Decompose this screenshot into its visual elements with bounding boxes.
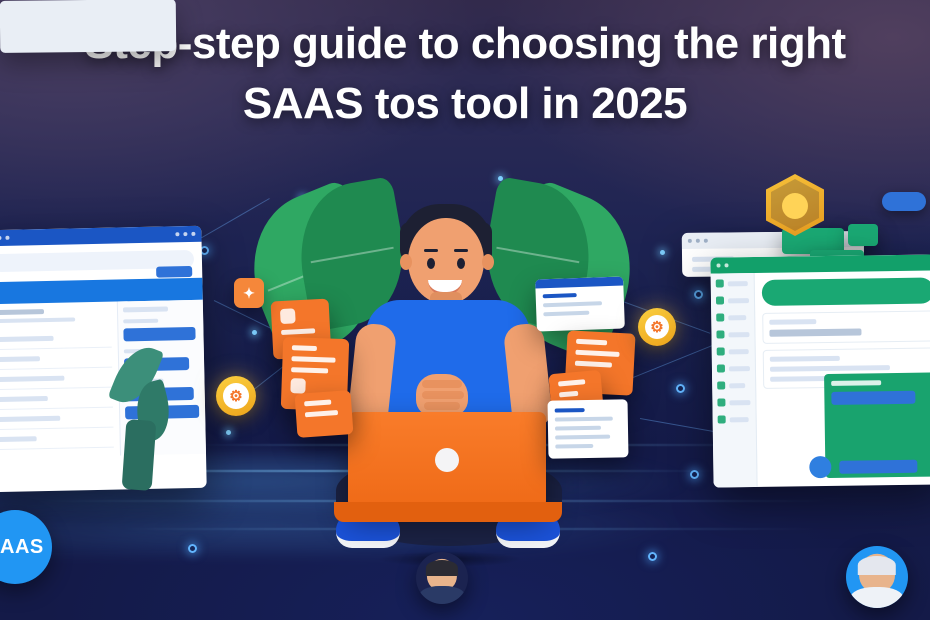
white-dialog-card[interactable] — [535, 276, 625, 331]
avatar-center[interactable] — [416, 552, 468, 604]
sidebar-item[interactable] — [716, 313, 749, 321]
sidebar-item[interactable] — [716, 330, 749, 338]
gear-icon[interactable] — [191, 232, 195, 236]
network-dot — [252, 330, 257, 335]
window-dot-icon — [704, 239, 708, 243]
network-node — [694, 290, 703, 299]
table-row[interactable] — [0, 348, 112, 371]
cart-icon[interactable] — [183, 232, 187, 236]
coin-glyph: ⚙ — [223, 383, 249, 409]
table-subtitle — [0, 317, 75, 323]
card-icon — [280, 308, 296, 324]
hero-banner: Step-step guide to choosing the right SA… — [0, 0, 930, 620]
network-dot — [660, 250, 665, 255]
hero-illustration — [330, 196, 566, 560]
network-node — [188, 544, 197, 553]
left-panel-table — [0, 302, 120, 459]
right-panel-main — [755, 270, 930, 487]
network-node — [676, 384, 685, 393]
left-dashboard-panel[interactable] — [0, 226, 207, 493]
hand-on-chest — [416, 374, 468, 416]
badge-glyph: ✦ — [243, 285, 255, 302]
right-panel-cta-button[interactable] — [839, 460, 917, 474]
sidebar-item[interactable] — [716, 296, 749, 304]
ear-left — [400, 254, 412, 270]
network-node — [648, 552, 657, 561]
laptop-logo — [435, 448, 459, 472]
left-panel-primary-button[interactable] — [156, 266, 192, 278]
coin-glyph: ⚙ — [645, 315, 669, 339]
orange-square-badge[interactable]: ✦ — [234, 278, 264, 308]
table-row[interactable] — [0, 368, 113, 391]
saas-brand-label: SAAS — [0, 536, 44, 559]
window-dot-icon — [696, 239, 700, 243]
table-title — [0, 309, 44, 315]
window-dot-icon — [724, 263, 728, 267]
sidebar-item[interactable] — [717, 381, 750, 389]
sidebar-item[interactable] — [718, 415, 751, 423]
sidebar-item[interactable] — [716, 279, 749, 287]
window-dot-icon — [716, 263, 720, 267]
chat-bubble[interactable] — [123, 327, 195, 342]
bell-icon[interactable] — [175, 232, 179, 236]
title-line-2: SAAS tos tool in 2025 — [8, 74, 922, 134]
table-row[interactable] — [0, 328, 112, 351]
white-list-card[interactable] — [548, 399, 629, 458]
table-row[interactable] — [0, 428, 114, 451]
right-base-card[interactable] — [0, 0, 176, 53]
eye-left — [427, 258, 435, 269]
laptop-base — [334, 502, 562, 522]
chat-header — [123, 306, 168, 312]
table-row[interactable] — [0, 408, 113, 431]
window-dot-icon — [688, 239, 692, 243]
avatar-right[interactable] — [846, 546, 908, 608]
right-dashboard-panel[interactable] — [710, 254, 930, 487]
plant-pot — [122, 419, 157, 491]
card-icon — [290, 378, 306, 394]
orange-laptop[interactable] — [348, 412, 546, 508]
sidebar-item[interactable] — [717, 398, 750, 406]
right-panel-sidebar — [711, 273, 758, 488]
sidebar-item[interactable] — [717, 347, 750, 355]
coin-badge-left[interactable]: ⚙ — [216, 376, 256, 416]
coin-badge-right[interactable]: ⚙ — [638, 308, 676, 346]
brow-left — [424, 249, 438, 252]
title-line-1: Step-step guide to choosing the right — [84, 19, 845, 68]
left-panel-titlebar — [0, 226, 202, 247]
left-panel-body — [0, 300, 206, 459]
table-row[interactable] — [0, 388, 113, 411]
network-node — [690, 470, 699, 479]
sidebar-item[interactable] — [717, 364, 750, 372]
window-dot-icon — [5, 236, 9, 240]
green-card-b[interactable] — [848, 224, 878, 246]
blue-pill-button[interactable] — [882, 192, 926, 211]
eye-right — [457, 258, 465, 269]
ear-right — [482, 254, 494, 270]
network-dot — [226, 430, 231, 435]
stats-card[interactable] — [762, 310, 930, 343]
window-dot-icon — [0, 236, 1, 240]
green-promo-banner[interactable] — [762, 278, 930, 306]
orange-card-bottom[interactable] — [295, 390, 354, 438]
brow-right — [454, 249, 468, 252]
